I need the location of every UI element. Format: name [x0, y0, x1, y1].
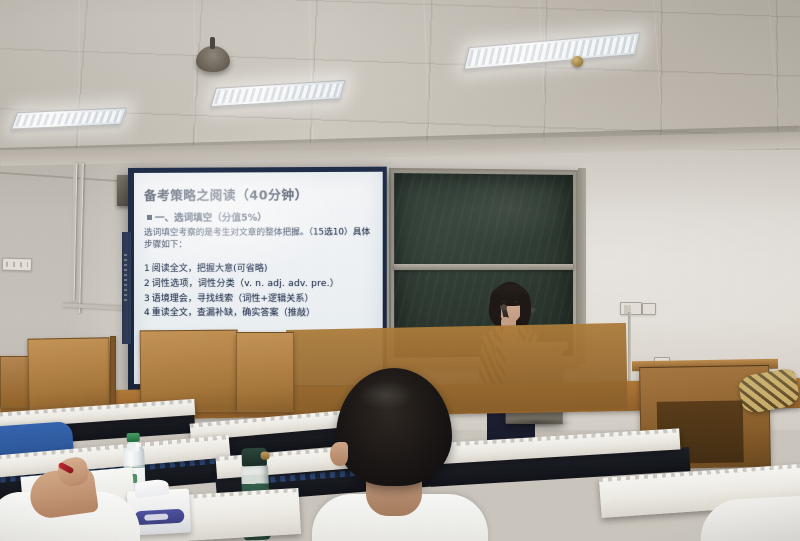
presenter-eye [514, 301, 518, 303]
water-bottle-cap [127, 433, 140, 442]
ceiling-brass-fitting [572, 56, 583, 67]
slide-step-item: 4重读全文，查漏补缺，确实答案（推敲） [144, 306, 377, 321]
slide-section-heading: 一、选词填空（分值5%） [144, 209, 377, 224]
slide-step-item: 2词性选项，词性分类（v. n. adj. adv. pre.） [144, 277, 377, 292]
tissue-box-label [134, 509, 185, 526]
thermos-clip [261, 451, 270, 459]
blackboard-mid-rail [394, 264, 573, 270]
slide-step-list: 1阅读全文，把握大意(可省略) 2词性选项，词性分类（v. n. adj. ad… [144, 262, 377, 321]
slide-step-text: 阅读全文，把握大意(可省略) [152, 264, 268, 274]
wood-panel [27, 337, 110, 410]
slide-step-number: 4 [144, 308, 150, 318]
classroom-photo: 备考策略之阅读（40分钟） 一、选词填空（分值5%） 选词填空考察的是考生对文章… [0, 0, 800, 541]
podium-shadow [500, 418, 572, 428]
slide-step-text: 重读全文，查漏补缺，确实答案（推敲） [152, 308, 315, 318]
student-center-ear [330, 442, 348, 466]
wall-mount-pole [628, 312, 631, 384]
slide-title: 备考策略之阅读（40分钟） [144, 184, 377, 204]
light-switch-icon[interactable] [620, 302, 642, 315]
presenter-hair-left [490, 294, 501, 326]
slide-step-number: 3 [144, 294, 150, 304]
slide-step-item: 3语境理会，寻找线索（词性+逻辑关系） [144, 292, 377, 307]
slide-step-number: 2 [144, 279, 150, 289]
presenter-hair-right [520, 294, 531, 327]
projector-dome-icon [196, 46, 230, 72]
student-left [0, 452, 140, 541]
slide-step-number: 1 [144, 264, 150, 274]
power-outlet-icon[interactable] [2, 258, 32, 272]
presenter-eye [502, 301, 506, 303]
wood-panel-divider [110, 336, 116, 410]
slide-step-text: 词性选项，词性分类（v. n. adj. adv. pre.） [152, 279, 339, 289]
wood-panel [0, 356, 30, 408]
light-switch-icon[interactable] [642, 303, 656, 315]
screen-side-post [122, 232, 131, 344]
student-center [318, 368, 468, 541]
slide-paragraph: 选词填空考察的是考生对文章的整体把握。（15选10）具体步骤如下： [144, 226, 377, 251]
student-center-hair [336, 368, 452, 486]
slide-step-text: 语境理会，寻找线索（词性+逻辑关系） [152, 294, 314, 304]
wood-panel [236, 332, 294, 412]
slide-bullet-icon [147, 215, 152, 220]
slide-section-text: 一、选词填空（分值5%） [155, 213, 267, 224]
slide-step-item: 1阅读全文，把握大意(可省略) [144, 262, 377, 277]
